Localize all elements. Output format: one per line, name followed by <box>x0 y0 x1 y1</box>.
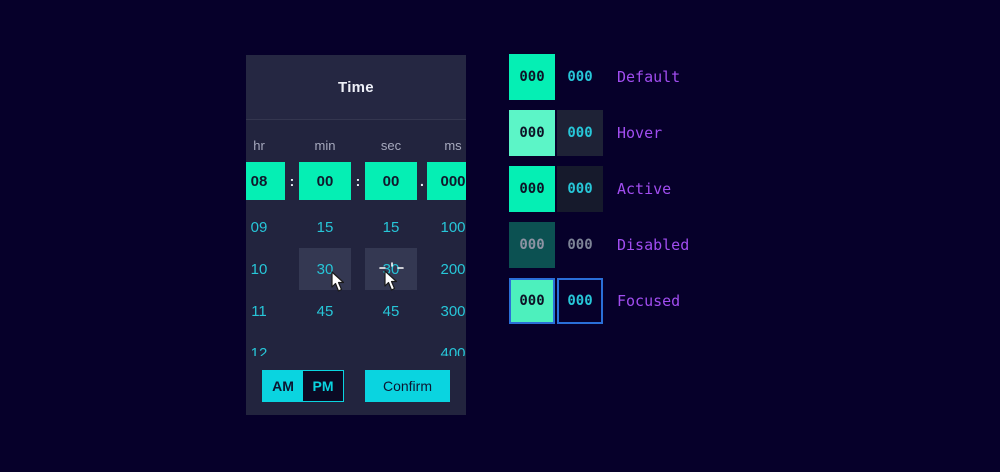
state-row-focused: 000 000 Focused <box>509 277 839 325</box>
meridiem-toggle[interactable]: AM PM <box>262 370 344 402</box>
state-label-default: Default <box>617 68 680 86</box>
selected-hour[interactable]: 08 <box>246 162 285 200</box>
swatch-filled[interactable]: 000 <box>509 54 555 100</box>
option-row-clipped: 12 400 <box>246 332 466 356</box>
swatch-plain[interactable]: 000 <box>557 110 603 156</box>
am-button[interactable]: AM <box>263 371 303 401</box>
state-row-default: 000 000 Default <box>509 53 839 101</box>
separator-colon-2: : <box>351 162 365 200</box>
picker-footer: AM PM Confirm <box>246 356 466 415</box>
swatch-filled[interactable]: 000 <box>509 166 555 212</box>
picker-header: Time <box>246 55 466 120</box>
selected-second[interactable]: 00 <box>365 162 417 200</box>
option-min[interactable]: 45 <box>299 290 351 332</box>
option-row: 09 15 15 100 <box>246 206 466 248</box>
column-header-ms: ms <box>427 138 466 153</box>
column-header-hr: hr <box>246 138 285 153</box>
state-row-disabled: 000 000 Disabled <box>509 221 839 269</box>
swatch-filled[interactable]: 000 <box>509 110 555 156</box>
option-hr[interactable]: 12 <box>246 332 285 356</box>
page-title: Time <box>338 79 374 96</box>
swatch-plain[interactable]: 000 <box>557 166 603 212</box>
separator-colon-1: : <box>285 162 299 200</box>
option-min[interactable]: 15 <box>299 206 351 248</box>
option-hr[interactable]: 11 <box>246 290 285 332</box>
swatch-plain: 000 <box>557 222 603 268</box>
column-header-row: hr min sec ms <box>246 132 466 158</box>
state-label-active: Active <box>617 180 671 198</box>
option-list[interactable]: 09 15 15 100 10 30 30 200 11 45 <box>246 206 466 356</box>
pm-button[interactable]: PM <box>303 371 343 401</box>
states-legend: 000 000 Default 000 000 Hover 000 000 Ac… <box>509 53 839 333</box>
column-header-sec: sec <box>365 138 417 153</box>
option-sec-hovered[interactable]: 30 <box>365 248 417 290</box>
column-header-min: min <box>299 138 351 153</box>
option-row: 10 30 30 200 <box>246 248 466 290</box>
state-row-active: 000 000 Active <box>509 165 839 213</box>
option-ms[interactable]: 100 <box>427 206 466 248</box>
swatch-filled[interactable]: 000 <box>509 278 555 324</box>
selected-value-row: 08 : 00 : 00 . 000 <box>246 162 466 200</box>
separator-dot: . <box>417 162 427 200</box>
time-picker-panel: Time hr min sec ms 08 : 00 : 00 . 000 09… <box>246 55 466 415</box>
swatch-plain[interactable]: 000 <box>557 278 603 324</box>
state-label-disabled: Disabled <box>617 236 689 254</box>
option-hr[interactable]: 10 <box>246 248 285 290</box>
confirm-button[interactable]: Confirm <box>365 370 450 402</box>
option-sec[interactable]: 45 <box>365 290 417 332</box>
option-sec[interactable]: 15 <box>365 206 417 248</box>
swatch-plain[interactable]: 000 <box>557 54 603 100</box>
state-row-hover: 000 000 Hover <box>509 109 839 157</box>
state-label-focused: Focused <box>617 292 680 310</box>
option-hr[interactable]: 09 <box>246 206 285 248</box>
option-min-hovered[interactable]: 30 <box>299 248 351 290</box>
selected-minute[interactable]: 00 <box>299 162 351 200</box>
state-label-hover: Hover <box>617 124 662 142</box>
option-ms[interactable]: 400 <box>427 332 466 356</box>
option-ms[interactable]: 300 <box>427 290 466 332</box>
selected-millisecond[interactable]: 000 <box>427 162 466 200</box>
option-ms[interactable]: 200 <box>427 248 466 290</box>
option-row: 11 45 45 300 <box>246 290 466 332</box>
swatch-filled: 000 <box>509 222 555 268</box>
picker-body: hr min sec ms 08 : 00 : 00 . 000 09 15 1… <box>246 120 466 356</box>
